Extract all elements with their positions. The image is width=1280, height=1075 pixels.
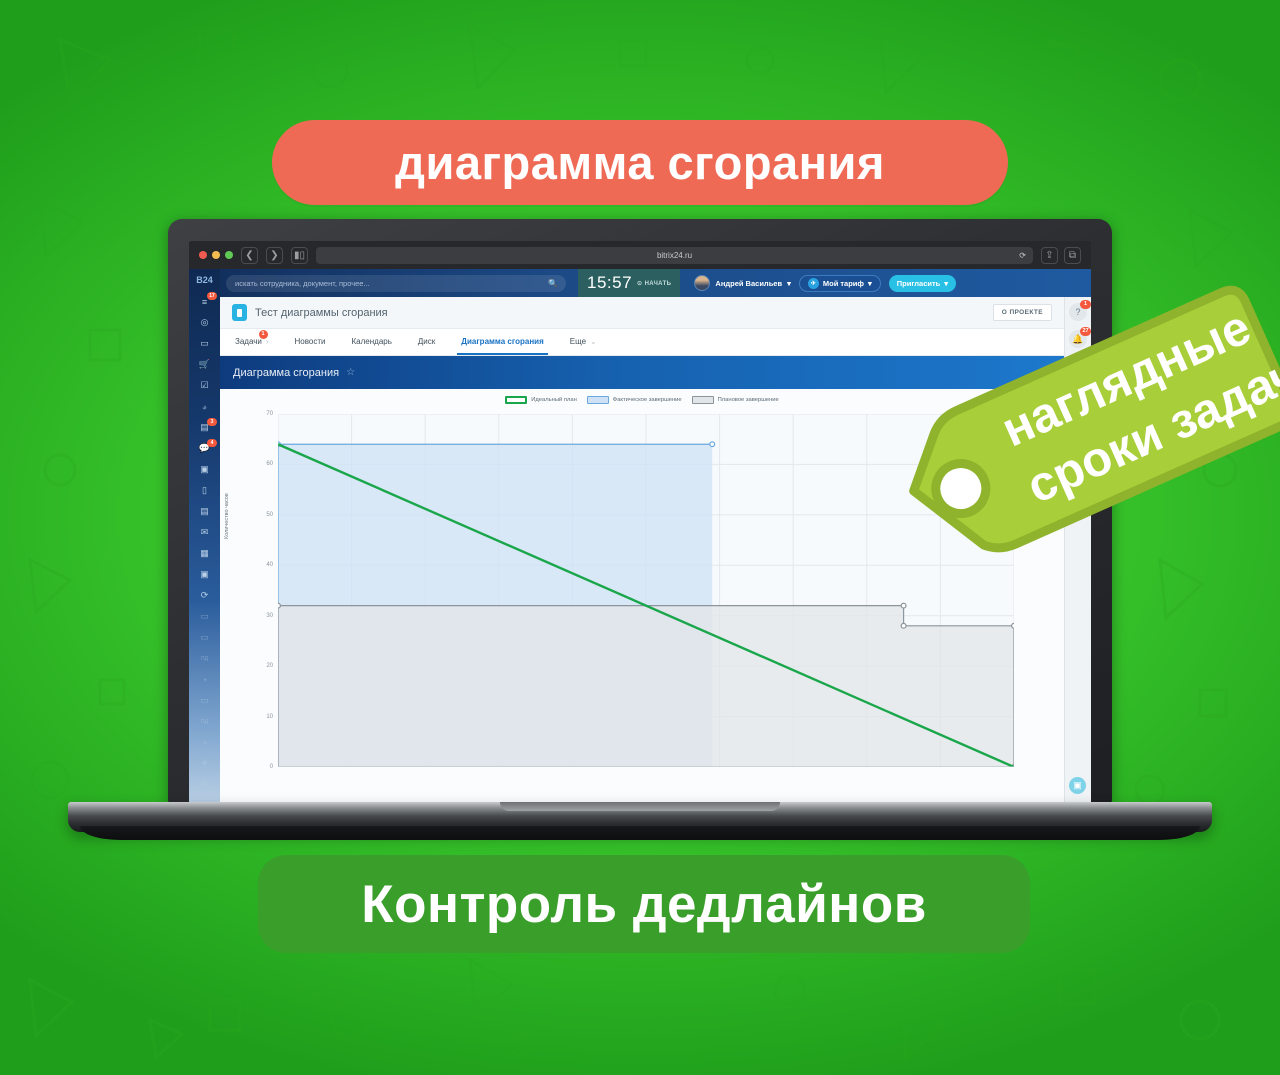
headline-banner-top: диаграмма сгорания — [272, 120, 1008, 205]
back-icon[interactable]: ❮ — [241, 247, 258, 264]
tab-4[interactable]: Диаграмма сгорания — [448, 328, 556, 355]
callout-tag: наглядные сроки задач — [800, 240, 1280, 660]
maximize-window-dot[interactable] — [225, 251, 233, 259]
sidebar-item-11[interactable]: ✉ — [189, 522, 220, 543]
legend-swatch — [587, 396, 609, 404]
sidebar-item-3[interactable]: 🛒 — [189, 354, 220, 375]
sidebar-item-12[interactable]: ▦ — [189, 543, 220, 564]
legend-swatch — [692, 396, 714, 404]
document-icon: ▯ — [202, 485, 207, 496]
sidebar-item-13[interactable]: ▣ — [189, 564, 220, 585]
clipboard-icon: ▣ — [200, 464, 209, 475]
sitemap-icon: ⚘ — [200, 758, 208, 769]
window-controls[interactable] — [199, 251, 233, 259]
star-outline-icon[interactable]: ☆ — [346, 367, 355, 378]
sidebar-item-18[interactable]: ◔ — [189, 669, 220, 690]
sidebar-item-0[interactable]: ≡17 — [189, 291, 220, 312]
sidebar-item-17[interactable]: ПД — [189, 648, 220, 669]
sidebar-item-21[interactable]: ◔ — [189, 732, 220, 753]
left-sidebar: B24 ≡17◎▭🛒☑◕▤3💬4▣▯▤✉▦▣⟳▭▭ПД◔▭ПД◔⚘⚙+ — [189, 269, 220, 804]
tab-label: Диск — [418, 337, 435, 346]
sidebar-item-14[interactable]: ⟳ — [189, 585, 220, 606]
search-input[interactable]: искать сотрудника, документ, прочее... 🔍 — [226, 275, 566, 292]
tab-label: Календарь — [352, 337, 392, 346]
database-icon: ▭ — [200, 632, 209, 643]
sidebar-item-6[interactable]: ▤3 — [189, 417, 220, 438]
avatar — [694, 275, 710, 291]
legend-item-2[interactable]: Плановое завершение — [692, 396, 779, 404]
y-axis-tick: 20 — [266, 663, 273, 669]
start-work-label[interactable]: ⊙ НАЧАТЬ — [637, 280, 671, 287]
legend-swatch — [505, 396, 527, 404]
mail-icon: ✉ — [201, 527, 209, 538]
chevron-down-icon: ▾ — [787, 279, 791, 288]
tab-0[interactable]: Задачи›1 — [230, 328, 282, 355]
cart-icon: 🛒 — [199, 359, 210, 370]
bitrix-logo[interactable]: B24 — [189, 269, 220, 291]
chart-pie-icon: ◕ — [202, 402, 207, 412]
chart-title: Диаграмма сгорания — [233, 367, 339, 379]
url-text: bitrix24.ru — [657, 251, 692, 260]
sidebar-toggle-icon[interactable]: ▮▯ — [291, 247, 308, 264]
page-title: Тест диаграммы сгорания — [255, 307, 388, 319]
tab-label: Диаграмма сгорания — [461, 337, 543, 346]
user-menu[interactable]: Андрей Васильев ▾ — [694, 275, 790, 291]
tab-label: Задачи — [235, 337, 262, 346]
legend-label: Идеальный план — [531, 397, 577, 403]
tasks-check-icon: ☑ — [200, 380, 208, 391]
legend-item-1[interactable]: Фактическое завершение — [587, 396, 682, 404]
sidebar-item-23[interactable]: ⚙ — [189, 774, 220, 795]
sidebar-item-badge: 3 — [207, 418, 217, 426]
sidebar-item-9[interactable]: ▯ — [189, 480, 220, 501]
sidebar-item-5[interactable]: ◕ — [189, 396, 220, 417]
search-icon[interactable]: 🔍 — [548, 279, 558, 288]
y-axis-tick: 60 — [266, 461, 273, 467]
sidebar-item-badge: 4 — [207, 439, 217, 447]
y-axis-tick: 40 — [266, 562, 273, 568]
project-folder-icon — [232, 304, 247, 321]
legend-label: Плановое завершение — [718, 397, 779, 403]
tab-2[interactable]: Календарь — [339, 328, 405, 355]
gear-icon: ⚙ — [200, 779, 208, 790]
tab-3[interactable]: Диск — [405, 328, 448, 355]
tab-label: Новости — [295, 337, 326, 346]
target-icon: ◎ — [201, 317, 209, 328]
menu-stream-icon: ≡ — [202, 297, 207, 307]
chat-widget-icon[interactable]: ▣ — [1069, 777, 1086, 794]
clock-icon: ◔ — [202, 675, 207, 685]
forward-icon[interactable]: ❯ — [266, 247, 283, 264]
company-icon: ▦ — [200, 548, 209, 559]
legend-label: Фактическое завершение — [613, 397, 682, 403]
chevron-icon: ⌄ — [590, 337, 597, 346]
sidebar-item-4[interactable]: ☑ — [189, 375, 220, 396]
contacts-icon: ▣ — [200, 569, 209, 580]
chevron-icon: › — [266, 337, 269, 346]
sidebar-item-2[interactable]: ▭ — [189, 333, 220, 354]
sidebar-item-16[interactable]: ▭ — [189, 627, 220, 648]
y-axis-tick: 30 — [266, 613, 273, 619]
briefcase-icon: ▭ — [200, 338, 209, 349]
database-icon: ▭ — [200, 611, 209, 622]
pd-label-icon: ПД — [201, 656, 208, 662]
y-axis-label: Количество часов — [224, 493, 230, 539]
sidebar-item-1[interactable]: ◎ — [189, 312, 220, 333]
sidebar-item-19[interactable]: ▭ — [189, 690, 220, 711]
sidebar-item-8[interactable]: ▣ — [189, 459, 220, 480]
legend-item-0[interactable]: Идеальный план — [505, 396, 577, 404]
user-name: Андрей Васильев — [715, 279, 782, 288]
tab-badge: 1 — [259, 330, 268, 339]
sidebar-item-7[interactable]: 💬4 — [189, 438, 220, 459]
sidebar-item-10[interactable]: ▤ — [189, 501, 220, 522]
play-circle-icon: ⊙ — [637, 281, 642, 287]
close-window-dot[interactable] — [199, 251, 207, 259]
sidebar-item-20[interactable]: ПД — [189, 711, 220, 732]
database-icon: ▭ — [200, 695, 209, 706]
y-axis-tick: 0 — [270, 764, 273, 770]
tab-1[interactable]: Новости — [282, 328, 339, 355]
minimize-window-dot[interactable] — [212, 251, 220, 259]
sidebar-item-badge: 17 — [207, 292, 217, 300]
y-axis-tick: 50 — [266, 512, 273, 518]
time-tracker[interactable]: 15:57 ⊙ НАЧАТЬ — [578, 269, 680, 297]
sidebar-item-22[interactable]: ⚘ — [189, 753, 220, 774]
search-placeholder: искать сотрудника, документ, прочее... — [235, 279, 370, 288]
pd-label-icon: ПД — [201, 719, 208, 725]
tab-5[interactable]: Еще⌄ — [557, 328, 610, 355]
y-axis-tick: 70 — [266, 411, 273, 417]
sidebar-item-15[interactable]: ▭ — [189, 606, 220, 627]
tab-label: Еще — [570, 337, 586, 346]
laptop-foot — [80, 826, 1200, 840]
clock-time: 15:57 — [587, 273, 632, 293]
drive-icon: ▤ — [200, 506, 209, 517]
clock-icon: ◔ — [202, 738, 207, 748]
headline-banner-bottom: Контроль дедлайнов — [258, 855, 1030, 953]
y-axis-tick: 10 — [266, 714, 273, 720]
sync-icon: ⟳ — [201, 590, 209, 601]
